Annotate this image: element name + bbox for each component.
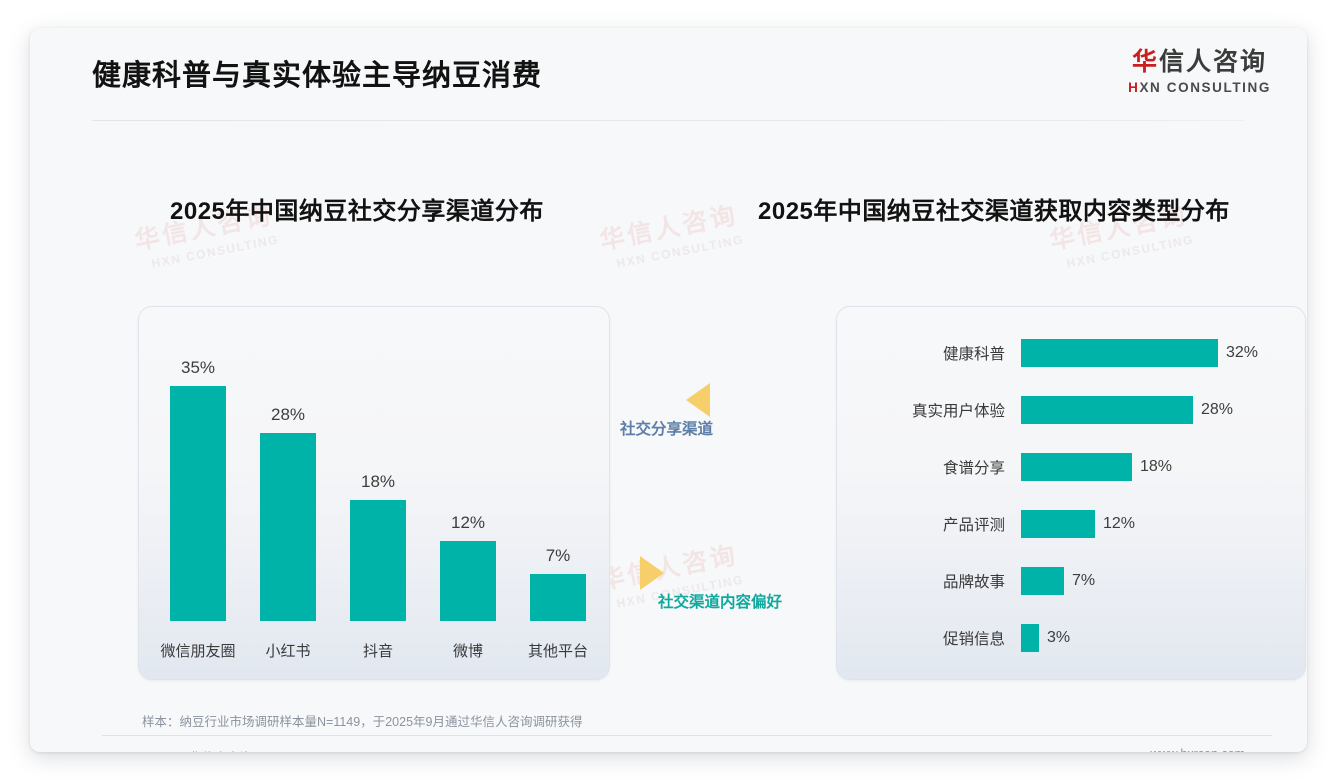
footer-divider (102, 735, 1272, 736)
logo-hua-char: 华 (1132, 48, 1159, 76)
footer-copyright: ©2025.11 HXR华信人咨询 (106, 747, 252, 752)
bar-rect[interactable] (1021, 567, 1064, 595)
bar-category-label: 微信朋友圈 (147, 640, 249, 661)
horizontal-bar-row: 食谱分享18% (837, 447, 1305, 487)
bar-category-label: 抖音 (327, 640, 429, 661)
chart-panel-right: 健康科普32%真实用户体验28%食谱分享18%产品评测12%品牌故事7%促销信息… (836, 306, 1306, 680)
watermark: 华信人咨询 HXN CONSULTING (596, 195, 745, 273)
bar-category-label: 促销信息 (837, 627, 1021, 649)
slide-card: 健康科普与真实体验主导纳豆消费 华信人咨询 HXN CONSULTING 华信人… (30, 28, 1307, 752)
bar-rect[interactable] (440, 541, 496, 621)
annotation-content-pref-label: 社交渠道内容偏好 (658, 590, 782, 612)
bar-value-label: 32% (1226, 344, 1258, 362)
chart-title-left: 2025年中国纳豆社交分享渠道分布 (170, 191, 544, 226)
bar-category-label: 健康科普 (837, 342, 1021, 364)
slide-header: 健康科普与真实体验主导纳豆消费 华信人咨询 HXN CONSULTING (30, 28, 1307, 120)
vertical-bar-group: 35%微信朋友圈 (161, 386, 235, 621)
bar-rect[interactable] (260, 433, 316, 621)
vertical-bar-group: 12%微博 (431, 541, 505, 621)
header-divider (92, 120, 1244, 121)
bar-rect[interactable] (1021, 624, 1039, 652)
bar-rect[interactable] (1021, 510, 1095, 538)
vertical-bar-group: 28%小红书 (251, 433, 325, 621)
logo-en-accent: H (1128, 80, 1139, 95)
vertical-bar-group: 7%其他平台 (521, 574, 595, 621)
vertical-bar-group: 18%抖音 (341, 500, 415, 621)
bar-value-label: 7% (1072, 572, 1095, 590)
bar-rect[interactable] (1021, 396, 1193, 424)
company-logo: 华信人咨询 HXN CONSULTING (1128, 50, 1271, 95)
bar-category-label: 小红书 (237, 640, 339, 661)
bar-category-label: 其他平台 (507, 640, 609, 661)
horizontal-bar-row: 产品评测12% (837, 504, 1305, 544)
bar-category-label: 品牌故事 (837, 570, 1021, 592)
bar-value-label: 18% (1140, 458, 1172, 476)
annotation-share-channel-label: 社交分享渠道 (620, 417, 713, 439)
footnote: 样本：纳豆行业市场调研样本量N=1149，于2025年9月通过华信人咨询调研获得 (142, 711, 582, 730)
triangle-left-icon (686, 383, 710, 417)
bar-value-label: 28% (251, 405, 325, 425)
logo-english: HXN CONSULTING (1128, 81, 1271, 95)
horizontal-bar-row: 促销信息3% (837, 618, 1305, 658)
logo-en-rest: XN CONSULTING (1139, 80, 1271, 95)
bar-rect[interactable] (350, 500, 406, 621)
page-title: 健康科普与真实体验主导纳豆消费 (92, 52, 542, 94)
horizontal-bar-row: 品牌故事7% (837, 561, 1305, 601)
logo-chinese: 华信人咨询 (1128, 50, 1271, 75)
bar-value-label: 12% (1103, 515, 1135, 533)
bar-category-label: 真实用户体验 (837, 399, 1021, 421)
horizontal-bar-row: 真实用户体验28% (837, 390, 1305, 430)
bar-value-label: 12% (431, 513, 505, 533)
bar-rect[interactable] (530, 574, 586, 621)
chart-title-right: 2025年中国纳豆社交渠道获取内容类型分布 (758, 191, 1230, 226)
bar-rect[interactable] (1021, 453, 1132, 481)
footer-website: www.hxrcon.com (1151, 747, 1245, 752)
logo-cn-rest: 信人咨询 (1159, 48, 1267, 76)
bar-category-label: 微博 (417, 640, 519, 661)
bar-category-label: 产品评测 (837, 513, 1021, 535)
bar-value-label: 3% (1047, 629, 1070, 647)
bar-rect[interactable] (170, 386, 226, 621)
bar-value-label: 28% (1201, 401, 1233, 419)
bar-value-label: 18% (341, 472, 415, 492)
bar-value-label: 35% (161, 358, 235, 378)
vertical-bar-chart: 35%微信朋友圈28%小红书18%抖音12%微博7%其他平台 (139, 307, 609, 679)
horizontal-bar-row: 健康科普32% (837, 333, 1305, 373)
triangle-right-icon (640, 556, 664, 590)
chart-panel-left: 35%微信朋友圈28%小红书18%抖音12%微博7%其他平台 (138, 306, 610, 680)
horizontal-bar-chart: 健康科普32%真实用户体验28%食谱分享18%产品评测12%品牌故事7%促销信息… (837, 333, 1305, 675)
bar-category-label: 食谱分享 (837, 456, 1021, 478)
bar-value-label: 7% (521, 546, 595, 566)
bar-rect[interactable] (1021, 339, 1218, 367)
